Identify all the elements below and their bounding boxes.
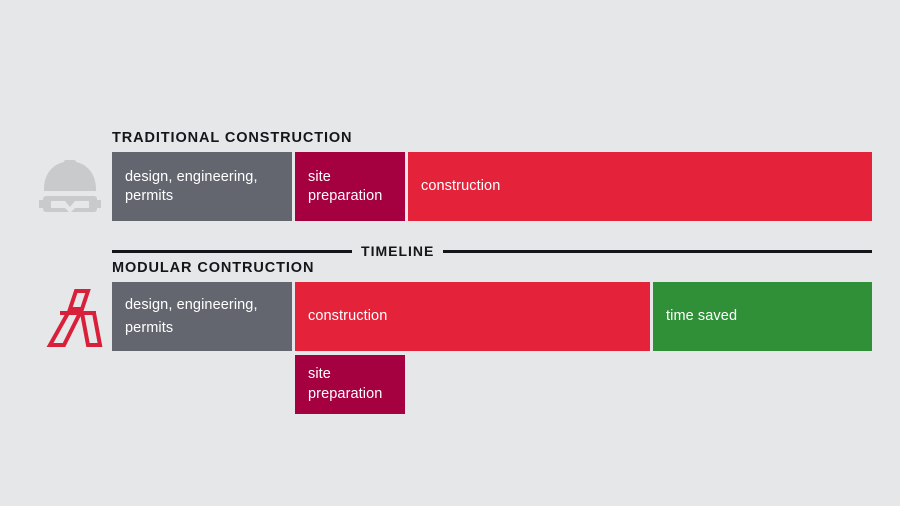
bar-traditional-design-engineering-permits[interactable]: design, engineering, permits	[112, 152, 292, 221]
bar-modular-time-saved[interactable]: time saved	[653, 282, 872, 351]
traditional-construction-heading: TRADITIONAL CONSTRUCTION	[112, 130, 352, 146]
bar-label-line: design, engineering,	[125, 168, 258, 187]
bar-label-line: design, engineering,	[125, 294, 258, 316]
timeline-label: TIMELINE	[361, 243, 434, 259]
bar-traditional-construction[interactable]: construction	[408, 152, 872, 221]
bar-modular-design-engineering-permits[interactable]: design, engineering, permits	[112, 282, 292, 351]
infographic-canvas: TRADITIONAL CONSTRUCTION design, enginee…	[0, 0, 900, 506]
modular-construction-heading: MODULAR CONTRUCTION	[112, 260, 314, 276]
bar-label-line: preparation	[308, 385, 382, 404]
hard-hat-icon	[34, 151, 106, 223]
timeline-divider: TIMELINE	[112, 243, 872, 259]
bar-label-line: permits	[125, 317, 258, 339]
bar-label-line: construction	[308, 307, 387, 326]
bar-label-line: permits	[125, 187, 258, 206]
bar-label-line: construction	[421, 177, 500, 196]
modular-logo-icon	[38, 283, 110, 355]
bar-label-line: site	[308, 168, 382, 187]
timeline-rule-left	[112, 250, 352, 253]
bar-modular-site-preparation[interactable]: site preparation	[295, 355, 405, 414]
bar-traditional-site-preparation[interactable]: site preparation	[295, 152, 405, 221]
bar-label-line: time saved	[666, 307, 737, 326]
bar-label-line: preparation	[308, 187, 382, 206]
timeline-rule-right	[443, 250, 872, 253]
bar-label-line: site	[308, 365, 382, 384]
bar-modular-construction[interactable]: construction	[295, 282, 650, 351]
